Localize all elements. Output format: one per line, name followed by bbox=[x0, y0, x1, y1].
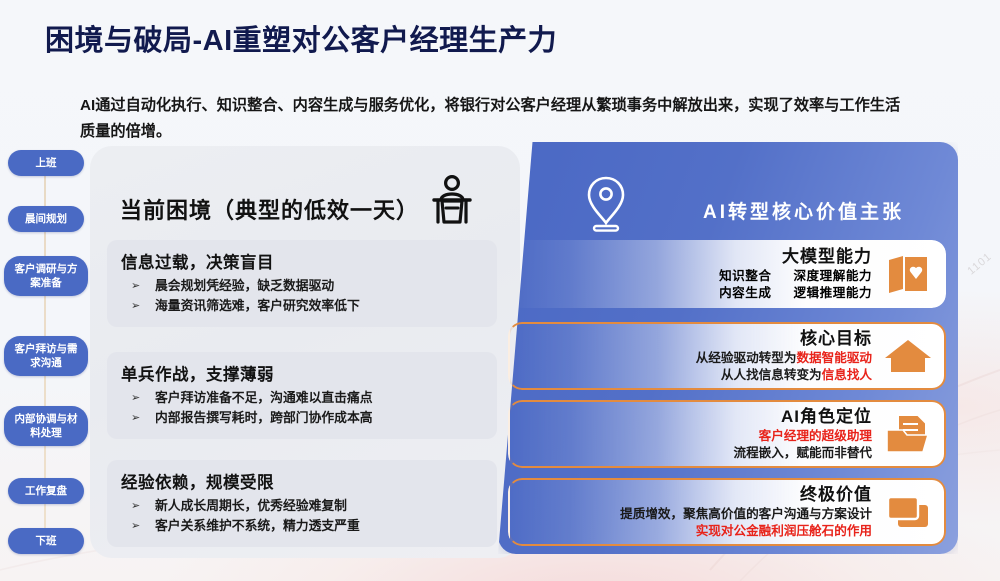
slide-root: 困境与破局-AI重塑对公客户经理生产力 AI通过自动化执行、知识整合、内容生成与… bbox=[0, 0, 1000, 581]
value-card-content: AI角色定位客户经理的超级助理流程嵌入，赋能而非替代 bbox=[566, 400, 946, 468]
pain-point-title: 经验依赖，规模受限 bbox=[121, 469, 483, 493]
pain-point-title: 单兵作战，支撑薄弱 bbox=[121, 361, 483, 385]
folder-documents-icon bbox=[882, 412, 934, 456]
value-card-line-plain: 提质增效，聚焦高价值的客户沟通与方案设计 bbox=[620, 507, 872, 521]
bullet-arrow-icon: ➢ bbox=[121, 408, 155, 428]
value-card-columns: 知识整合内容生成深度理解能力逻辑推理能力 bbox=[719, 268, 872, 302]
timeline-pill-label: 求沟通 bbox=[8, 356, 84, 370]
current-difficulties-heading-text: 当前困境（典型的低效一天） bbox=[120, 193, 419, 225]
value-card-line-highlight: 实现对公金融利润压舱石的作用 bbox=[696, 524, 872, 538]
timeline-pill-label: 客户调研与方 bbox=[8, 262, 84, 276]
value-card-line: 流程嵌入，赋能而非替代 bbox=[733, 445, 872, 462]
value-card-1[interactable]: 核心目标从经验驱动转型为数据智能驱动从人找信息转变为信息找人 bbox=[508, 322, 946, 390]
value-card-2[interactable]: AI角色定位客户经理的超级助理流程嵌入，赋能而非替代 bbox=[508, 400, 946, 468]
value-card-line: 客户经理的超级助理 bbox=[733, 428, 872, 445]
pain-point-card-2: 经验依赖，规模受限➢新人成长周期长，优秀经验难复制➢客户关系维护不系统，精力透支… bbox=[107, 460, 497, 547]
value-card-title: AI角色定位 bbox=[733, 406, 872, 428]
timeline-pill-label: 案准备 bbox=[8, 276, 84, 290]
pain-point-text: 客户拜访准备不足，沟通难以直击痛点 bbox=[155, 388, 373, 408]
value-card-3[interactable]: 终极价值提质增效，聚焦高价值的客户沟通与方案设计实现对公金融利润压舱石的作用 bbox=[508, 478, 946, 546]
value-card-text: 终极价值提质增效，聚焦高价值的客户沟通与方案设计实现对公金融利润压舱石的作用 bbox=[620, 484, 882, 540]
location-pin-icon bbox=[583, 174, 629, 241]
timeline-pill-6[interactable]: 下班 bbox=[8, 528, 84, 554]
book-heart-icon bbox=[882, 251, 934, 297]
value-card-line: 从人找信息转变为信息找人 bbox=[696, 367, 872, 384]
value-card-capability: 深度理解能力 bbox=[793, 268, 872, 285]
timeline-pill-5[interactable]: 工作复盘 bbox=[8, 478, 84, 504]
value-card-line-highlight: 信息找人 bbox=[822, 368, 872, 382]
timeline-pill-label: 上班 bbox=[12, 156, 80, 170]
value-card-line-plain: 流程嵌入，赋能而非替代 bbox=[733, 446, 872, 460]
value-card-0[interactable]: 大模型能力知识整合内容生成深度理解能力逻辑推理能力 bbox=[508, 240, 946, 308]
home-icon bbox=[882, 336, 934, 376]
value-card-capability: 逻辑推理能力 bbox=[793, 285, 872, 302]
pain-point-item: ➢新人成长周期长，优秀经验难复制 bbox=[121, 496, 483, 516]
pain-point-text: 客户关系维护不系统，精力透支严重 bbox=[155, 516, 360, 536]
value-card-title: 终极价值 bbox=[620, 484, 872, 506]
timeline-pill-1[interactable]: 晨间规划 bbox=[8, 206, 84, 232]
value-card-line-highlight: 数据智能驱动 bbox=[796, 351, 872, 365]
timeline-pill-label: 客户拜访与需 bbox=[8, 342, 84, 356]
podium-speaker-icon bbox=[429, 175, 475, 233]
value-card-column: 深度理解能力逻辑推理能力 bbox=[793, 268, 872, 302]
pain-point-item: ➢海量资讯筛选难，客户研究效率低下 bbox=[121, 296, 483, 316]
ai-value-panel: AI转型核心价值主张 大模型能力知识整合内容生成深度理解能力逻辑推理能力 核心目… bbox=[498, 142, 958, 554]
timeline-pill-label: 下班 bbox=[12, 534, 80, 548]
timeline-pill-3[interactable]: 客户拜访与需求沟通 bbox=[4, 336, 88, 376]
pain-point-list: ➢晨会规划凭经验，缺乏数据驱动➢海量资讯筛选难，客户研究效率低下 bbox=[121, 276, 483, 316]
pain-point-text: 海量资讯筛选难，客户研究效率低下 bbox=[155, 296, 360, 316]
page-subtitle: AI通过自动化执行、知识整合、内容生成与服务优化，将银行对公客户经理从繁琐事务中… bbox=[80, 93, 910, 145]
bullet-arrow-icon: ➢ bbox=[121, 388, 155, 408]
timeline-pill-label: 内部协调与材 bbox=[8, 412, 84, 426]
value-card-title: 核心目标 bbox=[696, 328, 872, 350]
ai-value-panel-title: AI转型核心价值主张 bbox=[703, 197, 904, 224]
bullet-arrow-icon: ➢ bbox=[121, 276, 155, 296]
value-card-line-plain: 从经验驱动转型为 bbox=[696, 351, 797, 365]
timeline-pill-4[interactable]: 内部协调与材料处理 bbox=[4, 406, 88, 446]
timeline-pill-label: 料处理 bbox=[8, 426, 84, 440]
pain-point-title: 信息过载，决策盲目 bbox=[121, 249, 483, 273]
value-card-capability: 内容生成 bbox=[719, 285, 771, 302]
stacked-cards-icon bbox=[882, 492, 934, 532]
value-card-line-highlight: 客户经理的超级助理 bbox=[759, 429, 872, 443]
background-watermark: 1101 bbox=[966, 251, 995, 278]
current-difficulties-heading: 当前困境（典型的低效一天） bbox=[120, 185, 475, 233]
pain-point-card-0: 信息过载，决策盲目➢晨会规划凭经验，缺乏数据驱动➢海量资讯筛选难，客户研究效率低… bbox=[107, 240, 497, 327]
pain-point-item: ➢客户拜访准备不足，沟通难以直击痛点 bbox=[121, 388, 483, 408]
value-card-column: 知识整合内容生成 bbox=[719, 268, 771, 302]
value-card-line: 提质增效，聚焦高价值的客户沟通与方案设计 bbox=[620, 506, 872, 523]
pain-point-card-1: 单兵作战，支撑薄弱➢客户拜访准备不足，沟通难以直击痛点➢内部报告撰写耗时，跨部门… bbox=[107, 352, 497, 439]
value-card-line: 实现对公金融利润压舱石的作用 bbox=[620, 523, 872, 540]
value-card-text: 核心目标从经验驱动转型为数据智能驱动从人找信息转变为信息找人 bbox=[696, 328, 882, 384]
page-title: 困境与破局-AI重塑对公客户经理生产力 bbox=[45, 17, 557, 59]
value-card-line: 从经验驱动转型为数据智能驱动 bbox=[696, 350, 872, 367]
pain-point-list: ➢客户拜访准备不足，沟通难以直击痛点➢内部报告撰写耗时，跨部门协作成本高 bbox=[121, 388, 483, 428]
pain-point-item: ➢客户关系维护不系统，精力透支严重 bbox=[121, 516, 483, 536]
value-card-content: 核心目标从经验驱动转型为数据智能驱动从人找信息转变为信息找人 bbox=[566, 322, 946, 390]
bullet-arrow-icon: ➢ bbox=[121, 496, 155, 516]
value-card-line-plain: 从人找信息转变为 bbox=[721, 368, 822, 382]
timeline-pill-label: 工作复盘 bbox=[12, 484, 80, 498]
value-card-capability: 知识整合 bbox=[719, 268, 771, 285]
pain-point-text: 新人成长周期长，优秀经验难复制 bbox=[155, 496, 347, 516]
bullet-arrow-icon: ➢ bbox=[121, 516, 155, 536]
pain-point-list: ➢新人成长周期长，优秀经验难复制➢客户关系维护不系统，精力透支严重 bbox=[121, 496, 483, 536]
timeline-pill-0[interactable]: 上班 bbox=[8, 150, 84, 176]
day-timeline: 上班晨间规划客户调研与方案准备客户拜访与需求沟通内部协调与材料处理工作复盘下班 bbox=[0, 148, 92, 558]
pain-point-text: 内部报告撰写耗时，跨部门协作成本高 bbox=[155, 408, 373, 428]
value-card-content: 大模型能力知识整合内容生成深度理解能力逻辑推理能力 bbox=[566, 240, 946, 308]
value-card-text: AI角色定位客户经理的超级助理流程嵌入，赋能而非替代 bbox=[733, 406, 882, 462]
pain-point-text: 晨会规划凭经验，缺乏数据驱动 bbox=[155, 276, 334, 296]
value-card-title: 大模型能力 bbox=[719, 246, 872, 268]
value-card-content: 终极价值提质增效，聚焦高价值的客户沟通与方案设计实现对公金融利润压舱石的作用 bbox=[566, 478, 946, 546]
pain-point-item: ➢晨会规划凭经验，缺乏数据驱动 bbox=[121, 276, 483, 296]
timeline-pill-label: 晨间规划 bbox=[12, 212, 80, 226]
bullet-arrow-icon: ➢ bbox=[121, 296, 155, 316]
value-card-text: 大模型能力知识整合内容生成深度理解能力逻辑推理能力 bbox=[719, 246, 882, 302]
pain-point-item: ➢内部报告撰写耗时，跨部门协作成本高 bbox=[121, 408, 483, 428]
timeline-pill-2[interactable]: 客户调研与方案准备 bbox=[4, 256, 88, 296]
